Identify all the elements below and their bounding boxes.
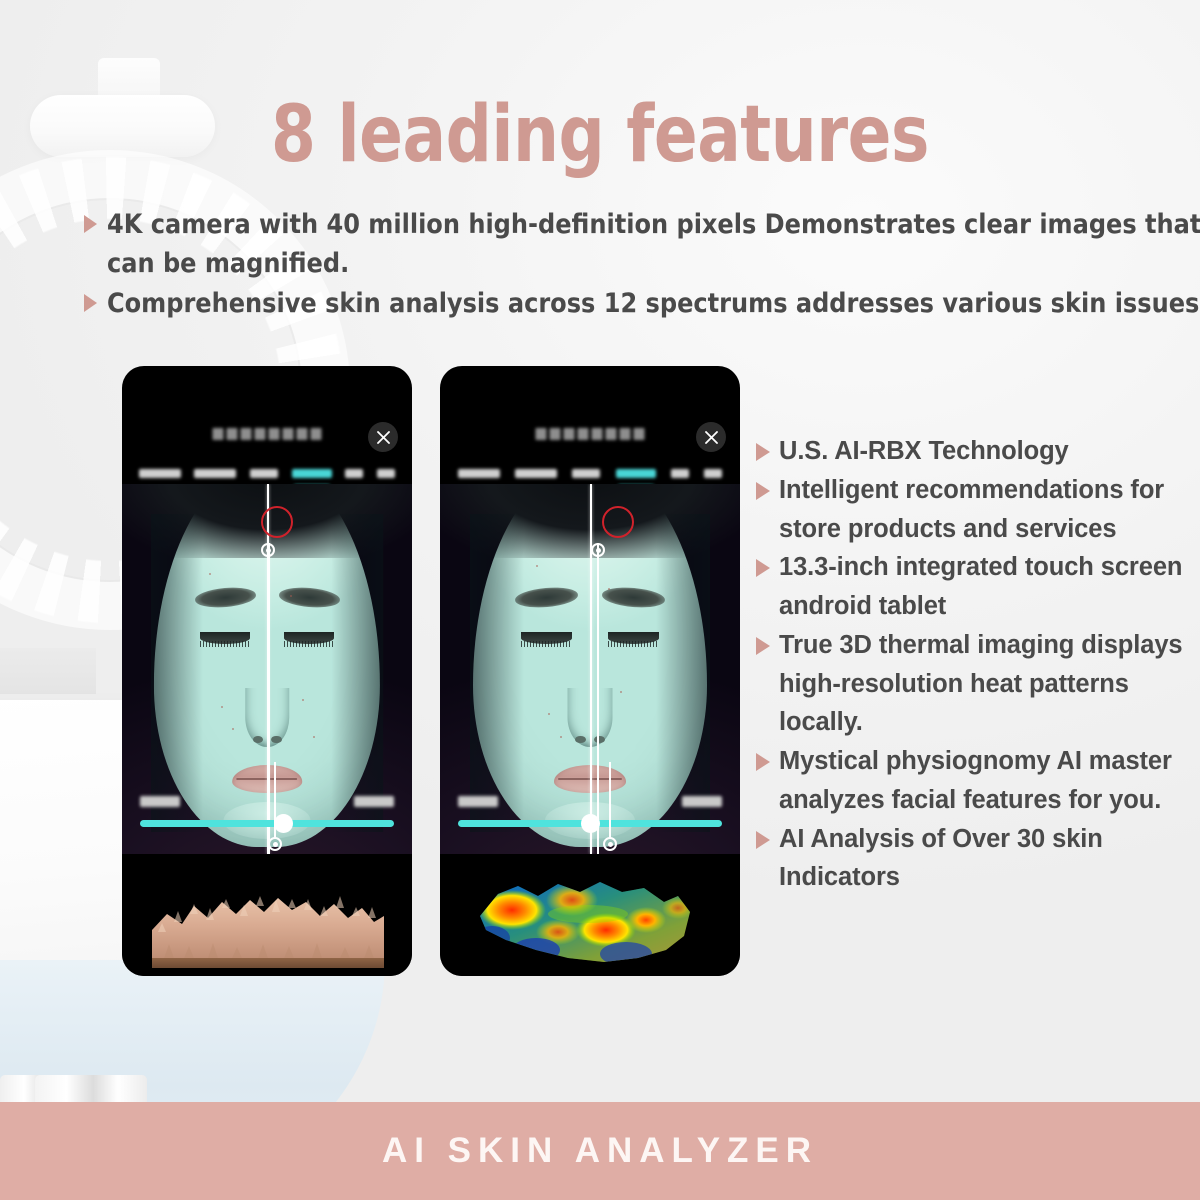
slider-right-label [354,796,394,807]
eyelash-right [284,641,333,647]
top-bullet-item: Comprehensive skin analysis across 12 sp… [84,285,1169,322]
nostril-left [575,736,586,743]
banner-title: AI SKIN ANALYZER [382,1131,818,1171]
feature-list-item: Intelligent recommendations for store pr… [756,471,1200,549]
face-shadow-right [656,514,710,832]
phone-tab[interactable] [572,469,600,478]
bullet-triangle-icon [756,753,770,771]
eyelash-left [200,641,249,647]
poster-canvas: 8 leading features 4K camera with 40 mil… [0,0,1200,1200]
skin-topography-phone[interactable] [122,366,412,976]
face-shadow-right [331,514,383,832]
feature-list-item-label: Intelligent recommendations for store pr… [779,471,1200,549]
top-feature-bullets: 4K camera with 40 million high-definitio… [84,206,1169,322]
feature-list-item-label: True 3D thermal imaging displays high-re… [779,626,1200,742]
feature-list: U.S. AI-RBX Technology Intelligent recom… [756,432,1200,897]
phone-tab-bar[interactable] [122,462,412,484]
face-shadow-left [470,514,524,832]
feature-list-item-label: AI Analysis of Over 30 skin Indicators [779,820,1200,898]
slider-thumb[interactable] [581,814,600,833]
feature-list-item-label: U.S. AI-RBX Technology [779,432,1069,471]
page-title: 8 leading features [48,96,1152,174]
background-device-panel-watermark [0,648,96,694]
nostril-right [594,736,605,743]
phone-screen [440,366,740,976]
phone-tab-active[interactable] [292,469,332,478]
phone-header-bar [122,422,412,456]
phone-tab[interactable] [704,469,722,478]
top-bullet-text: can be magnified. [107,245,349,282]
phone-tab[interactable] [194,469,236,478]
feature-list-item: U.S. AI-RBX Technology [756,432,1200,471]
feature-list-item: AI Analysis of Over 30 skin Indicators [756,820,1200,898]
feature-list-item: True 3D thermal imaging displays high-re… [756,626,1200,742]
phone-tab[interactable] [377,469,395,478]
phone-tab[interactable] [139,469,181,478]
bullet-triangle-icon [756,559,770,577]
guide-handle-bottom[interactable] [268,837,282,851]
bullet-triangle-icon [756,637,770,655]
feature-list-item: Mystical physiognomy AI master analyzes … [756,742,1200,820]
phone-header-title [536,428,645,440]
bullet-triangle-icon [84,215,97,233]
thermal-surface [440,858,740,976]
eyelash-left [521,641,572,647]
face-shadow-left [151,514,203,832]
top-bullet-item-continuation: can be magnified. [84,245,1169,282]
close-icon[interactable] [368,422,398,452]
bullet-triangle-icon [756,831,770,849]
slider-left-label [140,796,180,807]
topography-surface [152,898,384,958]
thermal-3d-heatmap-render [440,858,740,976]
top-bullet-item: 4K camera with 40 million high-definitio… [84,206,1169,243]
top-bullet-text: 4K camera with 40 million high-definitio… [107,206,1200,243]
phone-header-title [213,428,322,440]
contrast-slider-row[interactable] [440,796,740,856]
feature-list-item-label: Mystical physiognomy AI master analyzes … [779,742,1200,820]
phone-tab[interactable] [458,469,500,478]
contrast-slider-row[interactable] [122,796,412,856]
close-icon[interactable] [696,422,726,452]
phone-tab-active[interactable] [616,469,656,478]
feature-list-item: 13.3-inch integrated touch screen androi… [756,548,1200,626]
skin-topography-3d-render [122,858,412,976]
phone-screen [122,366,412,976]
slider-thumb[interactable] [274,814,293,833]
phone-tab-bar[interactable] [440,462,740,484]
phone-tab[interactable] [515,469,557,478]
bullet-triangle-icon [84,294,97,312]
phone-tab[interactable] [250,469,278,478]
bullet-triangle-icon [756,482,770,500]
top-bullet-text: Comprehensive skin analysis across 12 sp… [107,285,1200,322]
phone-tab[interactable] [671,469,689,478]
measurement-guide-line-lower [609,762,611,838]
bottom-banner: AI SKIN ANALYZER [0,1102,1200,1200]
measurement-guide-line-lower [274,762,276,838]
phone-header-bar [440,422,740,456]
topography-base [152,958,384,968]
feature-list-item-label: 13.3-inch integrated touch screen androi… [779,548,1200,626]
guide-handle-bottom[interactable] [603,837,617,851]
thermal-imaging-phone[interactable] [440,366,740,976]
nostril-right [271,736,281,743]
slider-track[interactable] [140,820,394,827]
region-of-interest-marker[interactable] [602,506,634,538]
eyelash-right [608,641,659,647]
nostril-left [253,736,263,743]
slider-right-label [682,796,722,807]
slider-left-label [458,796,498,807]
bullet-triangle-icon [756,443,770,461]
phone-tab[interactable] [345,469,363,478]
